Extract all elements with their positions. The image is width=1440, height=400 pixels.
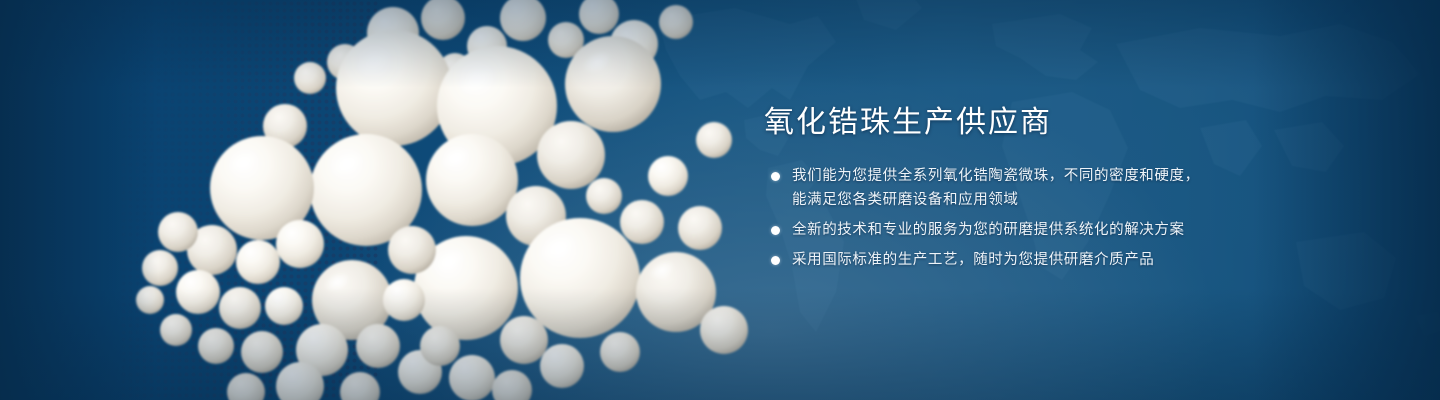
- page-title: 氧化锆珠生产供应商: [764, 104, 1282, 142]
- list-item: 全新的技术和专业的服务为您的研磨提供系统化的解决方案: [762, 218, 1282, 242]
- list-item-line-2: 能满足您各类研磨设备和应用领域: [792, 188, 1282, 212]
- list-item: 我们能为您提供全系列氧化锆陶瓷微珠，不同的密度和硬度， 能满足您各类研磨设备和应…: [762, 164, 1282, 212]
- list-item-line-1: 我们能为您提供全系列氧化锆陶瓷微珠，不同的密度和硬度，: [792, 168, 1200, 184]
- list-item-line-1: 全新的技术和专业的服务为您的研磨提供系统化的解决方案: [792, 222, 1185, 238]
- feature-list: 我们能为您提供全系列氧化锆陶瓷微珠，不同的密度和硬度， 能满足您各类研磨设备和应…: [762, 164, 1282, 272]
- hero-copy: 氧化锆珠生产供应商 我们能为您提供全系列氧化锆陶瓷微珠，不同的密度和硬度， 能满…: [762, 104, 1282, 272]
- list-item-line-1: 采用国际标准的生产工艺，随时为您提供研磨介质产品: [792, 252, 1154, 268]
- bullet-dot-icon: [771, 226, 780, 235]
- hero-banner: 氧化锆珠生产供应商 我们能为您提供全系列氧化锆陶瓷微珠，不同的密度和硬度， 能满…: [0, 0, 1440, 400]
- bullet-dot-icon: [771, 172, 780, 181]
- list-item: 采用国际标准的生产工艺，随时为您提供研磨介质产品: [762, 248, 1282, 272]
- bullet-dot-icon: [771, 256, 780, 265]
